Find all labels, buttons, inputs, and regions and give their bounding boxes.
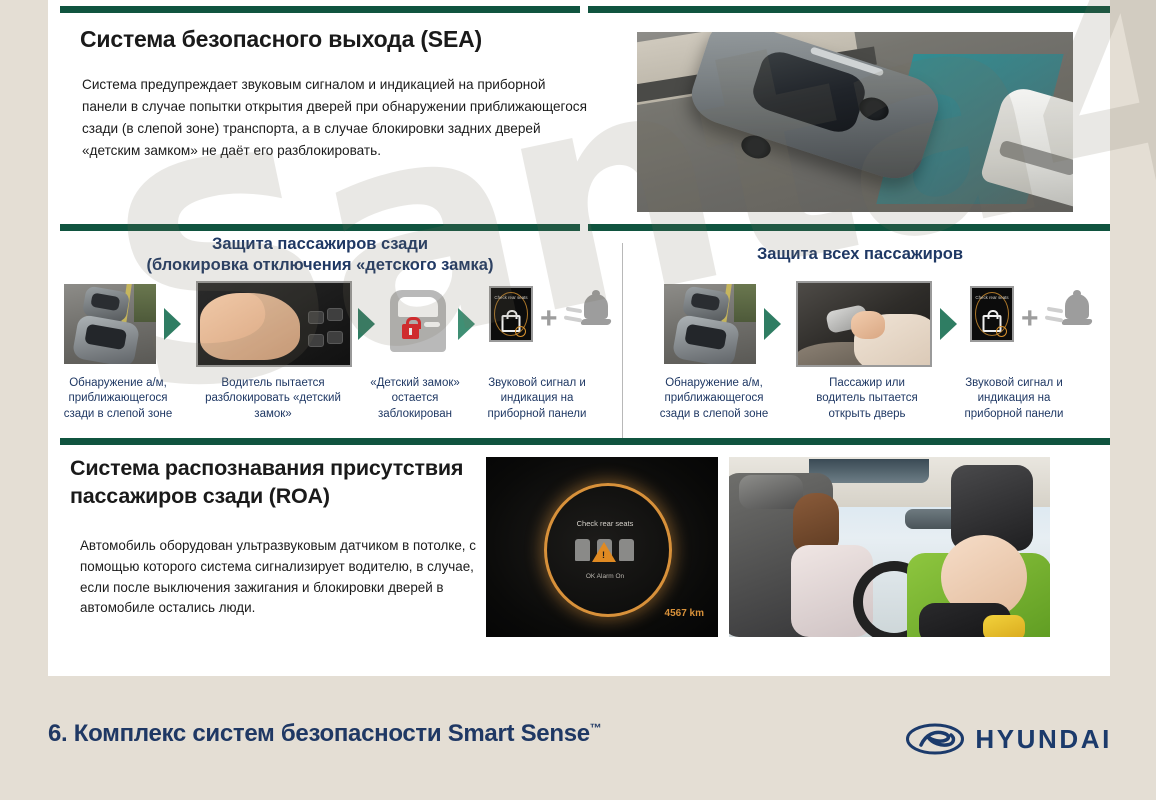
hyundai-wordmark: HYUNDAI <box>975 724 1112 755</box>
presentation-slide: Система безопасного выхода (SEA) Система… <box>0 0 1156 800</box>
flow-right-heading: Защита всех пассажиров <box>650 244 1070 265</box>
flow-left-arrow2 <box>358 308 375 340</box>
roa-cluster-odometer: 4567 km <box>665 608 704 619</box>
bell-sound-icon <box>578 290 612 330</box>
flow-left-cluster-icon: Check rear seats <box>489 286 533 342</box>
flow-right-plus: + <box>1021 304 1039 334</box>
flow-left-arrow1 <box>164 308 181 340</box>
flow-left-step1-image <box>64 284 156 364</box>
roa-title: Система распознавания присутствия пассаж… <box>70 454 480 511</box>
footer-title: 6. Комплекс систем безопасности Smart Se… <box>48 720 602 748</box>
sea-title: Система безопасного выхода (SEA) <box>80 26 600 53</box>
sea-body: Система предупреждает звуковым сигналом … <box>82 74 594 162</box>
trademark-symbol: ™ <box>590 721 602 735</box>
roa-cluster-prompt: OK Alarm On <box>544 573 666 580</box>
flow-left-step2-caption: Водитель пытается разблокировать «детски… <box>198 376 348 422</box>
bell-sound-icon-right <box>1059 290 1093 330</box>
roa-cluster-message: Check rear seats <box>544 519 666 528</box>
flow-right-arrow2 <box>940 308 957 340</box>
roa-section: Система распознавания присутствия пассаж… <box>0 438 1156 676</box>
slide-footer: 6. Комплекс систем безопасности Smart Se… <box>0 676 1156 800</box>
flow-right-arrow1 <box>764 308 781 340</box>
flow-right-step1-image <box>664 284 756 364</box>
roa-cluster-photo: Check rear seats ! OK Alarm On 4567 km <box>486 457 718 637</box>
hyundai-logo: HYUNDAI <box>906 722 1112 756</box>
roa-body: Автомобиль оборудован ультразвуковым дат… <box>80 536 480 619</box>
flow-right-step2-image <box>796 281 932 367</box>
flow-left-heading-line2: (блокировка отключения «детского замка) <box>60 255 580 276</box>
roa-cabin-photo <box>729 457 1050 637</box>
flow-section: Защита пассажиров сзади (блокировка откл… <box>0 224 1156 438</box>
flow-left-step3-caption: «Детский замок» остается заблокирован <box>358 376 472 422</box>
hyundai-emblem-icon <box>906 723 964 755</box>
flow-left-heading: Защита пассажиров сзади (блокировка откл… <box>60 234 580 277</box>
flow-left-step4-caption: Звуковой сигнал и индикация на приборной… <box>478 376 596 422</box>
footer-title-text: 6. Комплекс систем безопасности Smart Se… <box>48 720 590 747</box>
flow-right-cluster-icon: Check rear seats <box>970 286 1014 342</box>
flow-left-step1-caption: Обнаружение а/м, приближающегося сзади в… <box>56 376 180 422</box>
cluster-message: Check rear seats <box>491 295 531 301</box>
sea-section: Система безопасного выхода (SEA) Система… <box>0 0 1156 224</box>
door-lock-icon <box>390 290 446 352</box>
flow-left-plus: + <box>540 304 558 334</box>
flow-right-step2-caption: Пассажир или водитель пытается открыть д… <box>806 376 928 422</box>
flow-left-heading-line1: Защита пассажиров сзади <box>60 234 580 255</box>
flow-left-arrow3 <box>458 308 475 340</box>
sea-hero-image <box>637 32 1073 212</box>
flow-right-step1-caption: Обнаружение а/м, приближающегося сзади в… <box>652 376 776 422</box>
cluster-message-right: Check rear seats <box>972 295 1012 301</box>
flow-right-step3-caption: Звуковой сигнал и индикация на приборной… <box>952 376 1076 422</box>
flow-left-step2-image <box>196 281 352 367</box>
